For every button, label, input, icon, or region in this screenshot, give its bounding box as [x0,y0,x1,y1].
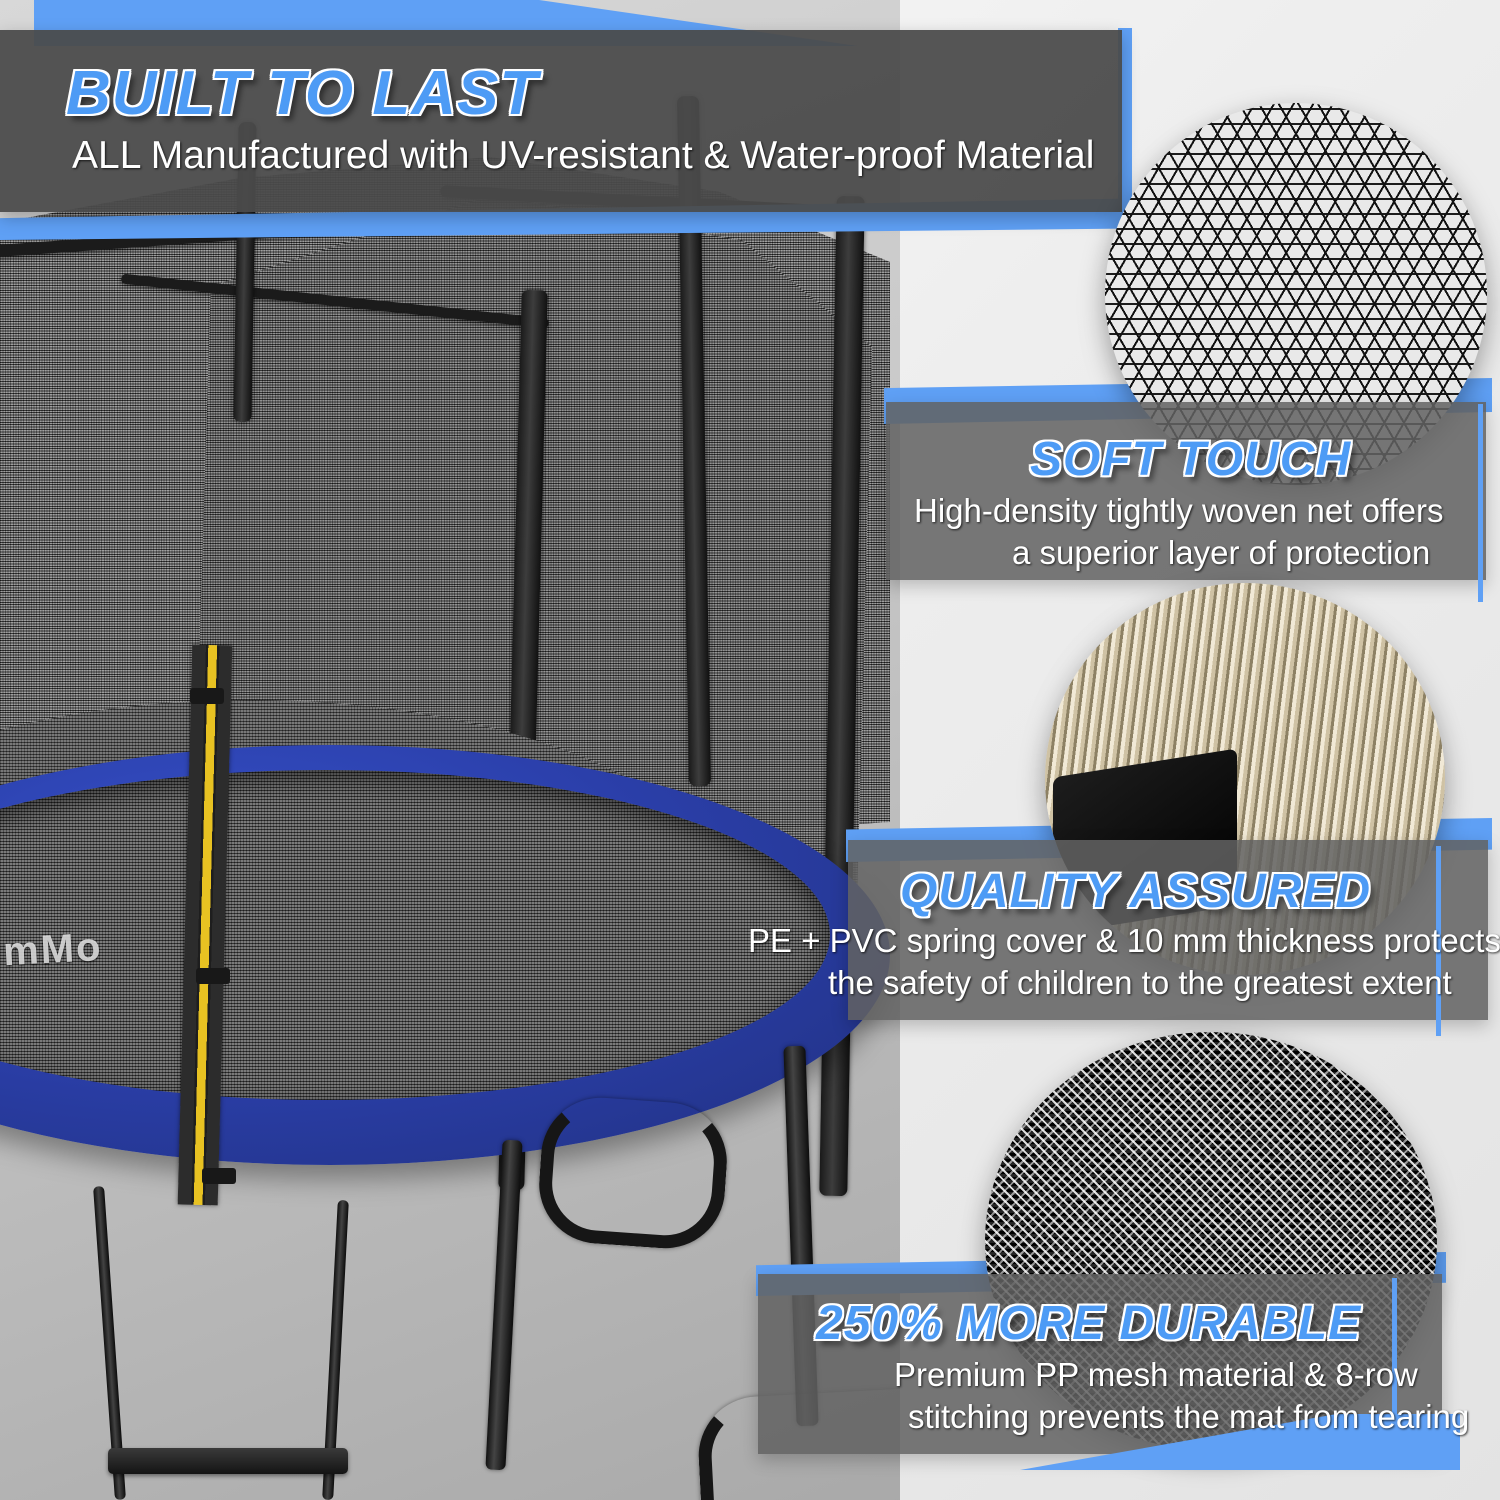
infographic-canvas: imMo BUILT TO LAST ALL Manufactured with… [0,0,1500,1500]
quality-assured-line-1: PE + PVC spring cover & 10 mm thickness … [748,922,1500,960]
more-durable-line-2: stitching prevents the mat from tearing [908,1398,1469,1436]
zipper-clip-top [190,688,224,704]
zipper-clip-bottom [202,1168,236,1184]
more-durable-line-1: Premium PP mesh material & 8-row [894,1356,1418,1394]
quality-assured-line-2: the safety of children to the greatest e… [828,964,1452,1002]
more-durable-headline: 250% MORE DURABLE [816,1296,1361,1351]
ladder-step-upper [108,1448,348,1474]
frame-leg-arc-left [535,1094,731,1253]
brand-wordmark: imMo [0,925,104,976]
soft-touch-line-2: a superior layer of protection [1012,534,1430,572]
soft-touch-line-1: High-density tightly woven net offers [914,492,1444,530]
accent-line-soft-touch [1478,404,1483,602]
soft-touch-headline: SOFT TOUCH [1030,432,1351,487]
quality-assured-headline: QUALITY ASSURED [900,864,1371,919]
header-headline: BUILT TO LAST [66,58,538,129]
zipper-clip-mid [196,968,230,984]
header-subline: ALL Manufactured with UV-resistant & Wat… [72,134,1094,178]
